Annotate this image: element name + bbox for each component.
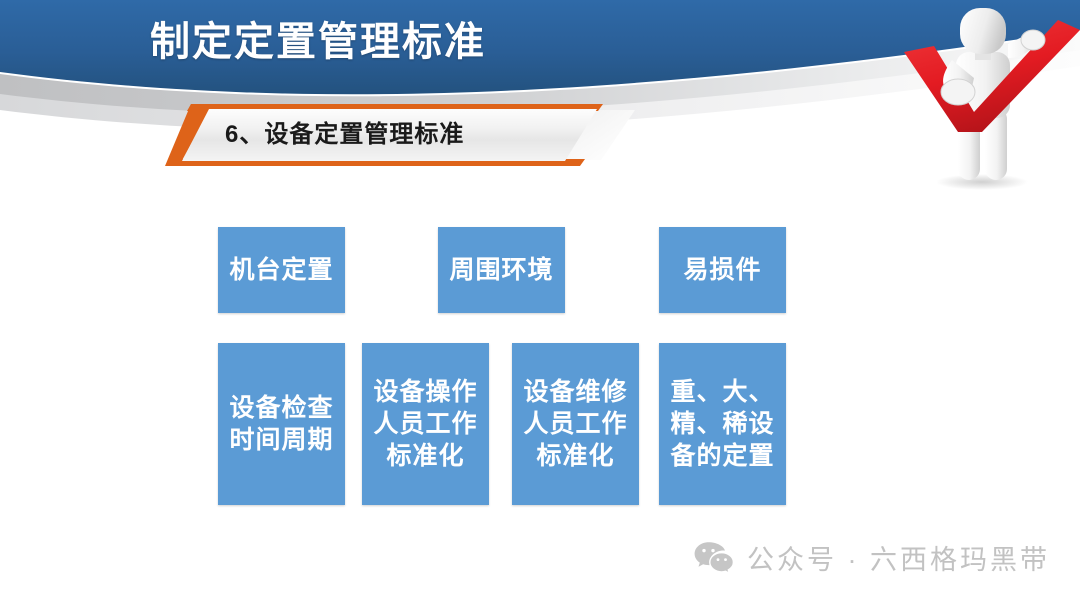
watermark-text: 公众号 · 六西格玛黑带 <box>747 538 1050 577</box>
wechat-eye-4 <box>724 558 727 561</box>
wechat-eye-2 <box>711 548 714 551</box>
box-top-3-label: 易损件 <box>683 254 761 286</box>
box-bottom-2-label: 设备操作 人员工作 标准化 <box>373 376 477 472</box>
box-bottom-4-label: 重、大、 精、稀设 备的定置 <box>670 376 774 472</box>
box-bottom-4[interactable]: 重、大、 精、稀设 备的定置 <box>659 343 786 505</box>
mascot-hand-right <box>1021 30 1045 50</box>
mascot-hand-left <box>941 79 975 105</box>
wechat-bubble-small <box>710 552 734 573</box>
slide-canvas: 制定定置管理标准 <box>0 0 1080 608</box>
wechat-eye-1 <box>702 548 705 551</box>
box-top-3[interactable]: 易损件 <box>659 227 786 313</box>
box-top-2-label: 周围环境 <box>449 254 553 286</box>
box-top-2[interactable]: 周围环境 <box>438 227 565 313</box>
subtitle-text: 6、设备定置管理标准 <box>225 104 464 166</box>
box-bottom-1[interactable]: 设备检查 时间周期 <box>218 343 345 505</box>
wechat-icon <box>694 541 734 575</box>
page-title: 制定定置管理标准 <box>150 12 750 72</box>
box-top-1-label: 机台定置 <box>229 254 333 286</box>
wechat-eye-3 <box>717 558 720 561</box>
mascot-head <box>960 8 1006 54</box>
box-bottom-2[interactable]: 设备操作 人员工作 标准化 <box>362 343 489 505</box>
box-top-1[interactable]: 机台定置 <box>218 227 345 313</box>
figure-holding-red-check-icon <box>890 0 1080 190</box>
box-bottom-3-label: 设备维修 人员工作 标准化 <box>523 376 627 472</box>
box-bottom-1-label: 设备检查 时间周期 <box>229 392 333 456</box>
box-bottom-3[interactable]: 设备维修 人员工作 标准化 <box>512 343 639 505</box>
mascot-shadow <box>936 174 1028 190</box>
watermark: 公众号 · 六西格玛黑带 <box>694 538 1050 577</box>
subtitle-ribbon: 6、设备定置管理标准 <box>165 104 635 166</box>
